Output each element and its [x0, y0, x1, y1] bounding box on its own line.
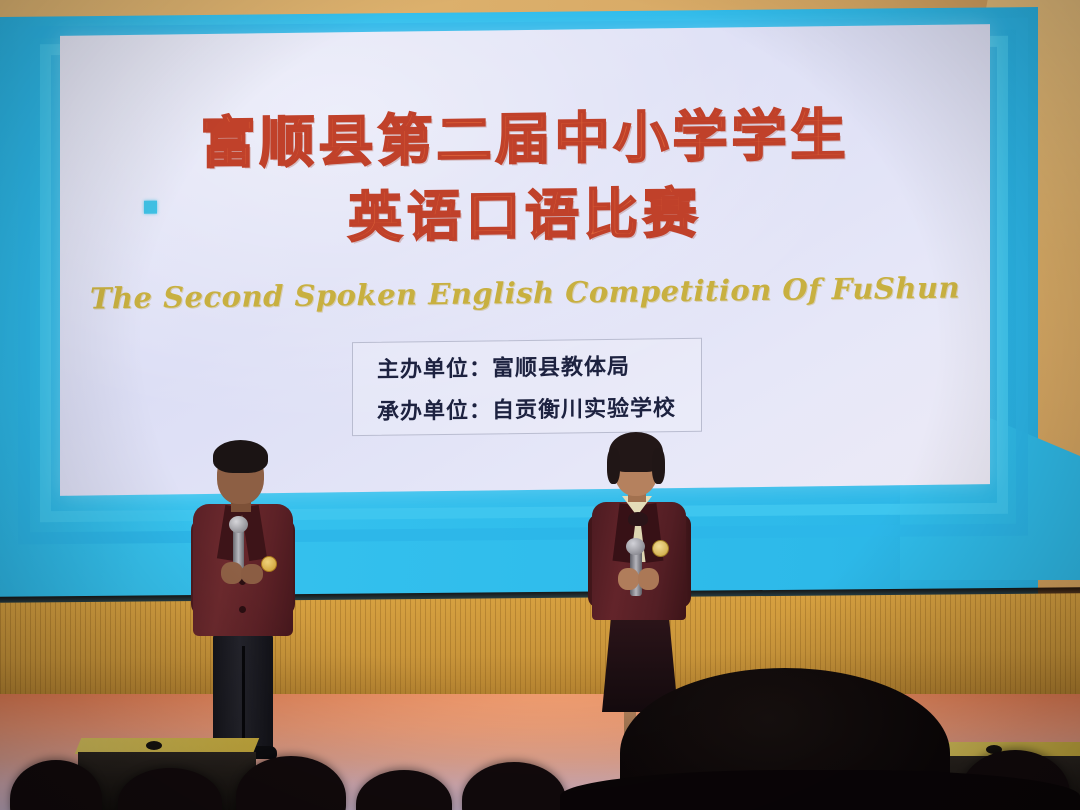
audience-head — [118, 768, 222, 810]
girl-hair-side-left — [607, 448, 620, 484]
slide-title-line-2: 英语口语比赛 — [60, 172, 990, 260]
boy-left-hand — [221, 562, 243, 584]
slide-title-line-1: 富顺县第二届中小学学生 — [60, 94, 990, 184]
wooden-slatted-wall — [0, 593, 1080, 704]
girl-hair-side-right — [652, 448, 665, 484]
audience-head — [356, 770, 452, 810]
projected-slide: 富顺县第二届中小学学生 英语口语比赛 The Second Spoken Eng… — [60, 24, 990, 496]
girl-right-hand — [638, 568, 659, 590]
audience-head — [10, 760, 102, 810]
boy-blazer-button-bottom — [239, 606, 246, 613]
girl-bowtie — [628, 512, 648, 526]
stage-photograph: 富顺县第二届中小学学生 英语口语比赛 The Second Spoken Eng… — [0, 0, 1080, 810]
organizer-box: 主办单位：富顺县教体局 承办单位：自贡衡川实验学校 — [352, 338, 702, 436]
boy-hair — [213, 440, 268, 473]
boy-right-hand — [241, 564, 263, 584]
girl-microphone-head — [626, 538, 645, 555]
slide-title-block: 富顺县第二届中小学学生 英语口语比赛 — [60, 94, 990, 260]
slide-subtitle-english: The Second Spoken English Competition Of… — [60, 270, 990, 316]
audience-shoulders-foreground — [560, 770, 1080, 810]
girl-school-badge — [652, 540, 669, 557]
audience-head — [462, 762, 566, 810]
boy-school-badge — [261, 556, 277, 572]
girl-left-hand — [618, 568, 639, 590]
organizer-line-host: 主办单位：富顺县教体局 — [377, 348, 701, 384]
audience-head — [236, 756, 346, 810]
organizer-line-venue: 承办单位：自贡衡川实验学校 — [377, 390, 701, 426]
boy-microphone-head — [229, 516, 248, 533]
